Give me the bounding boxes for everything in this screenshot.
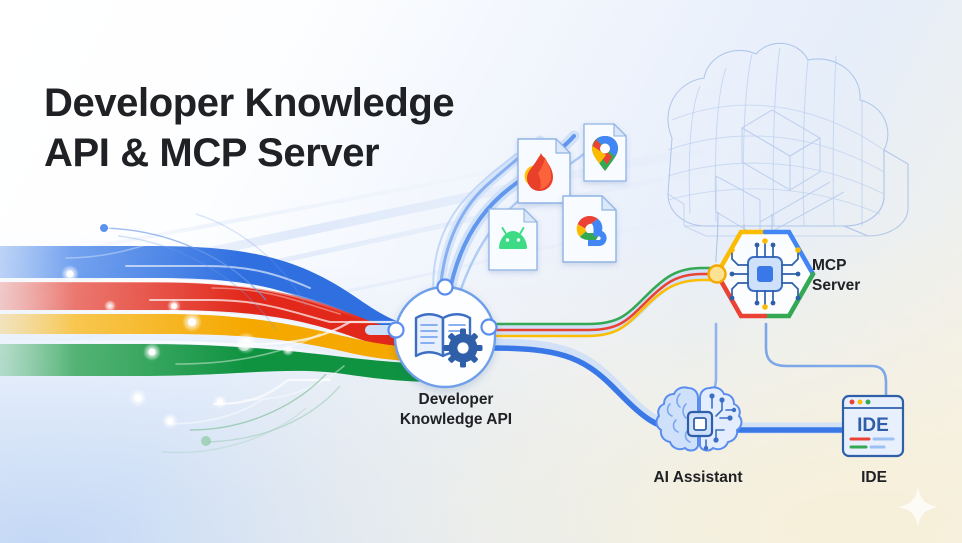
- ide-label: IDE: [812, 468, 936, 488]
- page-title: Developer Knowledge API & MCP Server: [44, 78, 454, 178]
- ai-assistant-label: AI Assistant: [608, 468, 788, 488]
- illustration-canvas: IDE Developer Knowledge API & MCP Server…: [0, 0, 962, 543]
- developer-knowledge-api-label: Developer Knowledge API: [316, 390, 596, 430]
- mcp-server-label: MCP Server: [812, 256, 952, 296]
